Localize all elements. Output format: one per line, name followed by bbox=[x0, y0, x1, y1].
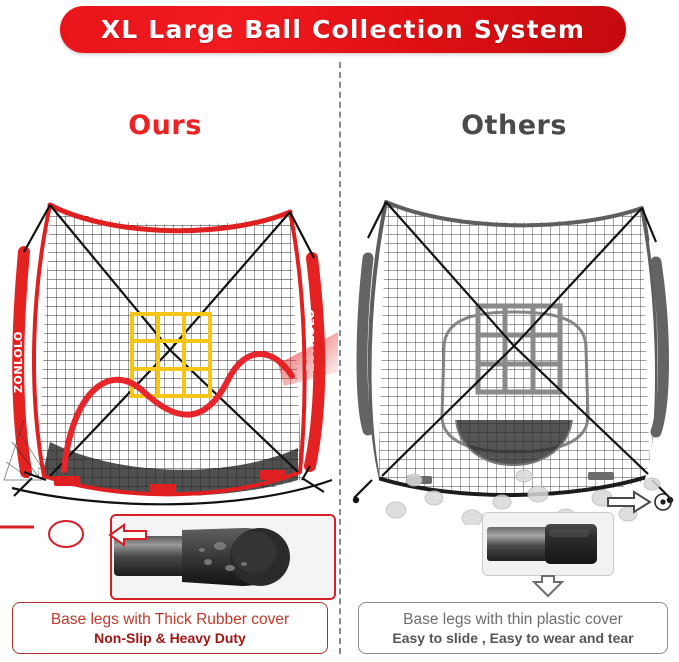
title-banner: XL Large Ball Collection System bbox=[60, 6, 626, 53]
heading-others: Others bbox=[349, 110, 679, 141]
inset-rubber-cap bbox=[110, 514, 336, 600]
column-divider bbox=[339, 62, 341, 654]
net-image-others bbox=[352, 180, 676, 525]
heading-ours: Ours bbox=[0, 110, 330, 141]
caption-ours-line2: Non-Slip & Heavy Duty bbox=[94, 629, 246, 647]
caption-ours-line1: Base legs with Thick Rubber cover bbox=[51, 610, 289, 629]
title-text: XL Large Ball Collection System bbox=[101, 15, 585, 44]
leg-sleeve-right-others bbox=[652, 242, 665, 480]
caption-others-line1: Base legs with thin plastic cover bbox=[403, 610, 623, 629]
caption-box-others: Base legs with thin plastic cover Easy t… bbox=[358, 602, 668, 654]
inset-plastic-cap bbox=[482, 512, 614, 576]
comparison-infographic: XL Large Ball Collection System Ours Oth… bbox=[0, 0, 679, 662]
caption-box-ours: Base legs with Thick Rubber cover Non-Sl… bbox=[12, 602, 328, 654]
caption-others-line2: Easy to slide , Easy to wear and tear bbox=[392, 629, 633, 647]
arrow-up-icon bbox=[534, 576, 562, 596]
brand-label-left: ZONLOLO bbox=[12, 331, 25, 393]
net-image-ours: ZONLOLO ZONLOLO bbox=[2, 180, 338, 525]
